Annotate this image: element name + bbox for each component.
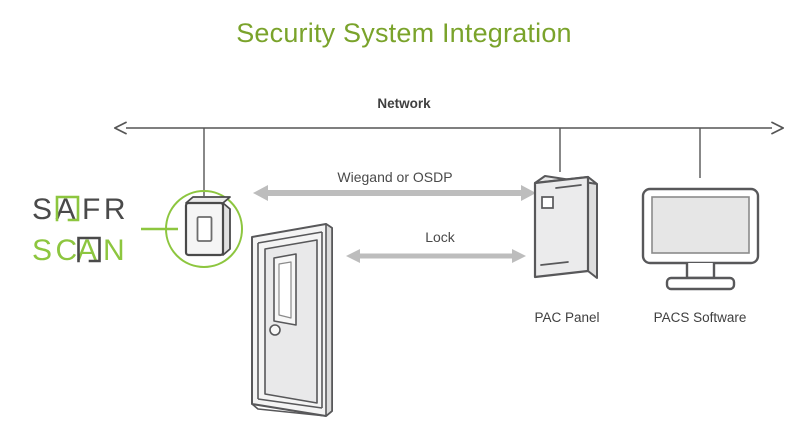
wiegand-osdp-arrow-icon <box>253 185 536 201</box>
logo-line2-rest: N <box>103 234 128 267</box>
control-panel-icon <box>535 176 597 278</box>
door-window-icon <box>274 254 296 325</box>
logo-line2-text: SC <box>32 234 81 267</box>
diagram-canvas: Security System Integration Network <box>0 0 808 427</box>
network-bus <box>126 128 772 196</box>
card-reader-icon <box>186 197 230 255</box>
logo-line1-rest: FR <box>82 193 129 226</box>
link-label-wiegand-osdp: Wiegand or OSDP <box>250 169 540 185</box>
panel-indicator-icon <box>542 197 553 208</box>
safr-scan-logo: S A FR SC A N <box>32 190 144 276</box>
lock-arrow-icon <box>346 249 526 263</box>
logo-line1-text: S <box>32 193 56 226</box>
door-knob-icon <box>270 325 280 335</box>
device-label-pacs-software: PACS Software <box>620 310 780 325</box>
safr-scan-logo-vector: S A FR SC A N <box>32 190 144 276</box>
door-icon <box>252 224 332 416</box>
link-label-lock: Lock <box>345 229 535 245</box>
monitor-icon <box>643 189 758 289</box>
